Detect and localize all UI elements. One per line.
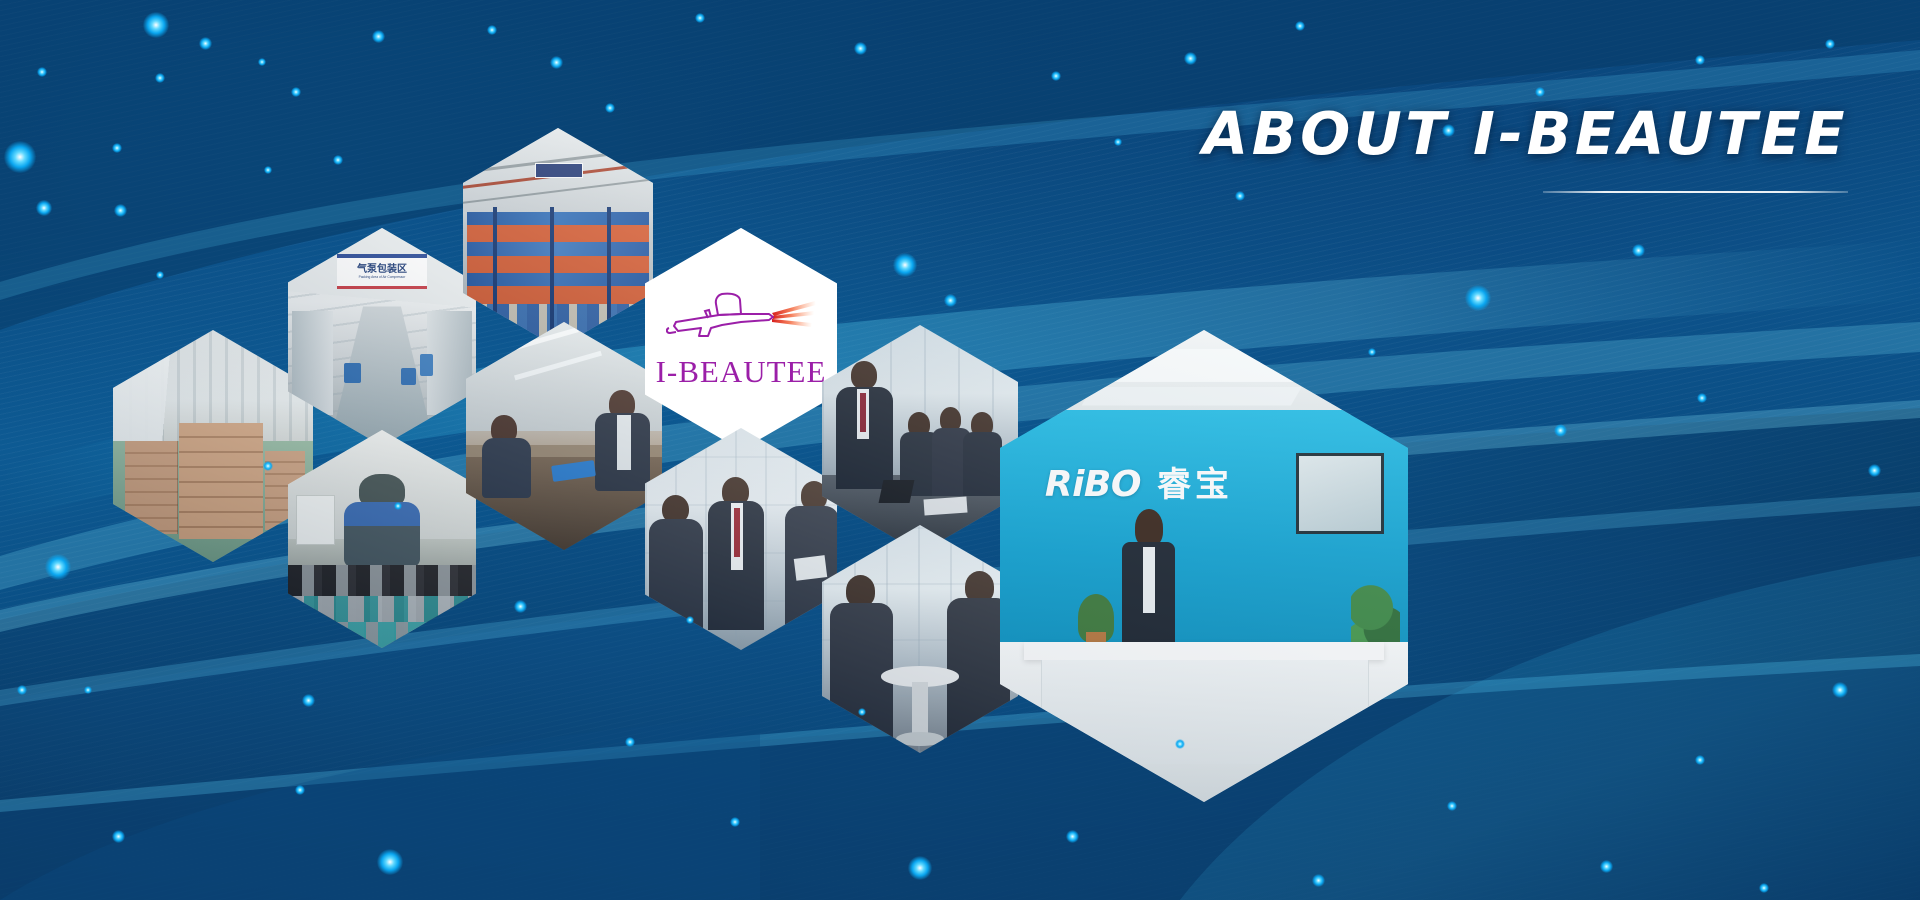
glow-dot: [4, 141, 35, 172]
hex-logo-badge[interactable]: I-BEAUTEE: [645, 228, 837, 450]
glow-dot: [1051, 71, 1061, 81]
hex-ribo-reception-photo: RiBO 睿宝: [1000, 330, 1408, 802]
hex-pump-assembly[interactable]: [288, 430, 476, 648]
logo-brand-text: I-BEAUTEE: [656, 354, 827, 390]
glow-dot: [1868, 464, 1881, 477]
glow-dot: [36, 200, 52, 216]
glow-dot: [1447, 801, 1457, 811]
airbrush-icon: [666, 288, 816, 350]
hex-packing-corridor[interactable]: 气泵包装区 Packing Area of Air Compressor: [288, 228, 476, 446]
glow-dot: [112, 830, 125, 843]
glow-dot: [1825, 39, 1835, 49]
hex-ribo-reception[interactable]: RiBO 睿宝: [1000, 330, 1408, 802]
glow-dot: [1600, 860, 1613, 873]
glow-dot: [908, 856, 931, 879]
glow-dot: [1695, 55, 1705, 65]
title-block: ABOUT I-BEAUTEE: [1203, 104, 1848, 193]
glow-dot: [295, 785, 305, 795]
glow-dot: [291, 87, 301, 97]
glow-dot: [514, 600, 527, 613]
glow-dot: [1114, 138, 1122, 146]
glow-dot: [372, 30, 385, 43]
glow-dot: [893, 253, 916, 276]
glow-dot: [17, 685, 27, 695]
glow-dot: [199, 37, 212, 50]
hex-business-meeting-standing-photo: [645, 428, 837, 650]
glow-dot: [550, 56, 563, 69]
glow-dot: [1184, 52, 1197, 65]
glow-dot: [264, 166, 272, 174]
hex-pump-assembly-photo: [288, 430, 476, 648]
glow-dot: [302, 694, 315, 707]
page-title: ABOUT I-BEAUTEE: [1203, 104, 1848, 163]
hex-boardroom-applause[interactable]: [822, 325, 1018, 553]
glow-dot: [625, 737, 635, 747]
glow-dot: [143, 12, 169, 38]
glow-dot: [605, 103, 615, 113]
glow-dot: [333, 155, 343, 165]
glow-dot: [258, 58, 266, 66]
glow-dot: [1554, 424, 1567, 437]
hex-assembly-racks[interactable]: [463, 128, 653, 348]
glow-dot: [1312, 874, 1325, 887]
hex-warehouse-cartons-photo: [113, 330, 313, 562]
hex-boardroom-applause-photo: [822, 325, 1018, 553]
glow-dot: [1832, 682, 1848, 698]
hex-assembly-racks-photo: [463, 128, 653, 348]
glow-dot: [487, 25, 497, 35]
glow-dot: [1535, 87, 1545, 97]
glow-dot: [114, 204, 127, 217]
glow-dot: [1066, 830, 1079, 843]
glow-dot: [854, 42, 867, 55]
glow-dot: [84, 686, 92, 694]
glow-dot: [1295, 21, 1305, 31]
about-banner: 气泵包装区 Packing Area of Air Compressor: [0, 0, 1920, 900]
title-underline: [1543, 191, 1848, 193]
glow-dot: [1697, 393, 1707, 403]
hex-warehouse-cartons[interactable]: [113, 330, 313, 562]
glow-dot: [37, 67, 47, 77]
glow-dot: [1368, 348, 1376, 356]
glow-dot: [695, 13, 705, 23]
glow-dot: [1695, 755, 1705, 765]
hex-packing-corridor-photo: 气泵包装区 Packing Area of Air Compressor: [288, 228, 476, 446]
hex-two-women-table[interactable]: [822, 525, 1018, 753]
glow-dot: [155, 73, 165, 83]
hex-reception-handover-photo: [466, 322, 662, 550]
glow-dot: [1759, 883, 1769, 893]
glow-dot: [944, 294, 957, 307]
hex-reception-handover[interactable]: [466, 322, 662, 550]
logo-hex-content: I-BEAUTEE: [645, 228, 837, 450]
hex-business-meeting-standing[interactable]: [645, 428, 837, 650]
hex-two-women-table-photo: [822, 525, 1018, 753]
glow-dot: [112, 143, 122, 153]
glow-dot: [730, 817, 740, 827]
glow-dot: [1465, 285, 1491, 311]
glow-dot: [377, 849, 403, 875]
glow-dot: [156, 271, 164, 279]
glow-dot: [1632, 244, 1645, 257]
glow-dot: [45, 554, 71, 580]
